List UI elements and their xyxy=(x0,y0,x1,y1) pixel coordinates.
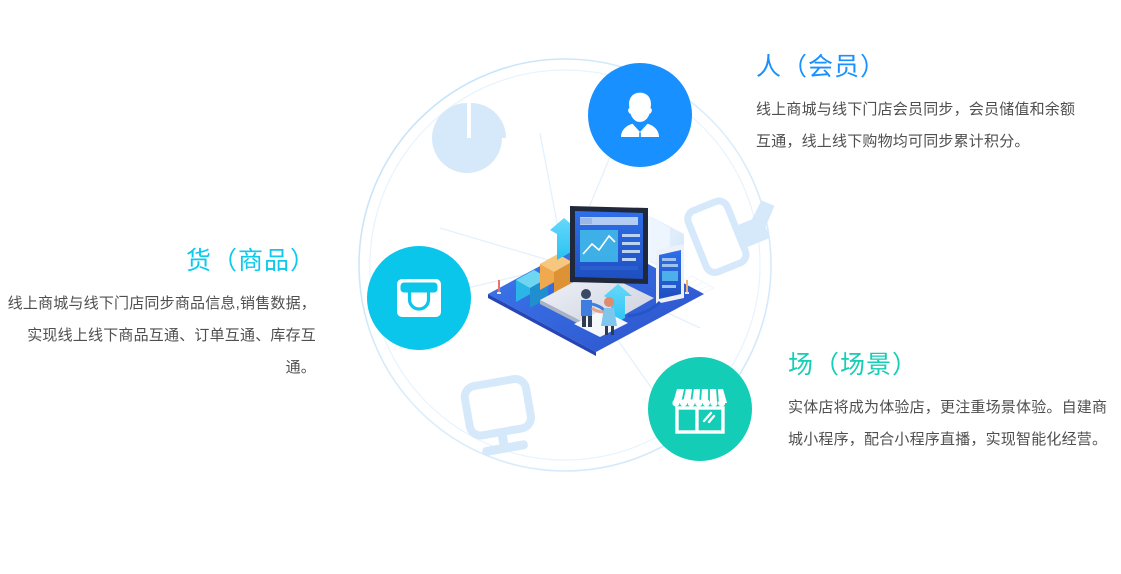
block-person-body: 线上商城与线下门店会员同步，会员储值和余额互通，线上线下购物均可同步累计积分。 xyxy=(756,94,1086,158)
screen-footer-bar xyxy=(580,266,638,270)
screen-topbar-accent xyxy=(580,218,592,224)
block-goods-body: 线上商城与线下门店同步商品信息,销售数据，实现线上线下商品互通、订单互通、库存互… xyxy=(0,288,316,384)
node-person[interactable] xyxy=(588,63,692,167)
illustration-svg xyxy=(478,188,714,356)
block-goods-title: 货（商品） xyxy=(0,248,316,276)
block-store-body: 实体店将成为体验店，更注重场景体验。自建商城小程序，配合小程序直播，实现智能化经… xyxy=(788,392,1118,456)
storefront-icon xyxy=(671,381,729,437)
isometric-ecommerce-illustration xyxy=(478,188,714,356)
desktop-monitor-icon xyxy=(463,377,536,458)
person-suit-icon xyxy=(612,87,668,143)
shopping-bag-icon xyxy=(392,271,446,325)
diagram-stage: 人（会员） 线上商城与线下门店会员同步，会员储值和余额互通，线上线下购物均可同步… xyxy=(0,0,1121,574)
pie-chart-icon xyxy=(432,103,506,173)
node-goods[interactable] xyxy=(367,246,471,350)
screen-chart-card xyxy=(580,230,618,262)
block-person-title: 人（会员） xyxy=(756,54,1086,82)
info-block-person: 人（会员） 线上商城与线下门店会员同步，会员储值和余额互通，线上线下购物均可同步… xyxy=(756,54,1086,158)
node-store[interactable] xyxy=(648,357,752,461)
info-block-store: 场（场景） 实体店将成为体验店，更注重场景体验。自建商城小程序，配合小程序直播，… xyxy=(788,352,1118,456)
info-block-goods: 货（商品） 线上商城与线下门店同步商品信息,销售数据，实现线上线下商品互通、订单… xyxy=(0,248,316,384)
block-store-title: 场（场景） xyxy=(788,352,1118,380)
tablet xyxy=(656,244,684,304)
